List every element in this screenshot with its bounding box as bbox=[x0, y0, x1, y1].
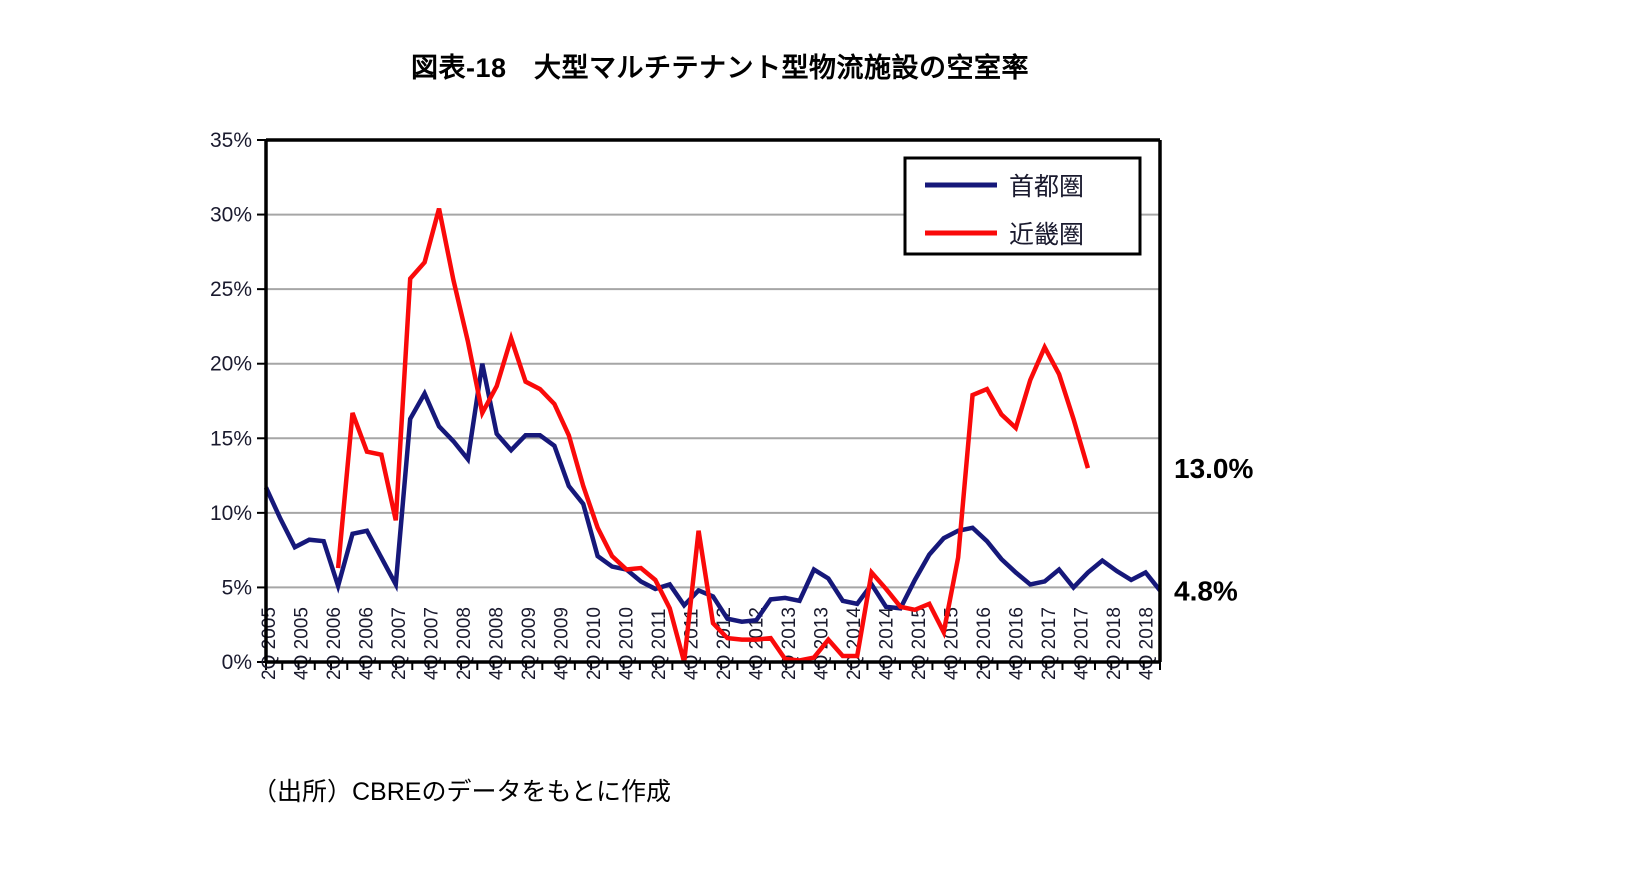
x-tick-label: 2Q 2017 bbox=[1039, 607, 1060, 680]
x-tick-label: 2Q 2018 bbox=[1104, 607, 1125, 680]
x-tick-label: 2Q 2008 bbox=[454, 607, 475, 680]
x-tick-label: 2Q 2007 bbox=[389, 607, 410, 680]
legend-label-首都圏: 首都圏 bbox=[1009, 173, 1084, 201]
chart-page: 図表-18 大型マルチテナント型物流施設の空室率 0%5%10%15%20%25… bbox=[0, 0, 1635, 873]
line-chart: 0%5%10%15%20%25%30%35% 2Q 20054Q 20052Q … bbox=[0, 0, 1635, 873]
y-tick-label: 35% bbox=[210, 129, 252, 152]
y-tick-label: 30% bbox=[210, 204, 252, 227]
x-axis-tick-labels: 2Q 20054Q 20052Q 20064Q 20062Q 20074Q 20… bbox=[259, 607, 1158, 680]
y-tick-label: 5% bbox=[222, 576, 252, 599]
y-tick-label: 20% bbox=[210, 353, 252, 376]
endpoint-label-近畿圏: 13.0% bbox=[1174, 453, 1253, 484]
source-note: （出所）CBREのデータをもとに作成 bbox=[252, 772, 671, 808]
x-tick-label: 4Q 2005 bbox=[292, 607, 313, 680]
x-tick-label: 2Q 2006 bbox=[324, 607, 345, 680]
x-tick-label: 2Q 2009 bbox=[519, 607, 540, 680]
x-tick-label: 4Q 2018 bbox=[1137, 607, 1158, 680]
x-tick-label: 4Q 2010 bbox=[617, 607, 638, 680]
x-tick-label: 4Q 2008 bbox=[487, 607, 508, 680]
x-tick-label: 2Q 2011 bbox=[649, 609, 670, 680]
y-tick-label: 15% bbox=[210, 427, 252, 450]
x-tick-label: 4Q 2009 bbox=[552, 607, 573, 680]
x-tick-label: 2Q 2010 bbox=[584, 607, 605, 680]
series-line-首都圏 bbox=[266, 364, 1160, 622]
x-tick-label: 4Q 2017 bbox=[1072, 607, 1093, 680]
legend-label-近畿圏: 近畿圏 bbox=[1009, 221, 1084, 249]
endpoint-value-labels: 13.0%4.8% bbox=[1174, 453, 1253, 606]
chart-plot-area: 0%5%10%15%20%25%30%35% 2Q 20054Q 20052Q … bbox=[0, 0, 1635, 873]
y-axis-tick-labels: 0%5%10%15%20%25%30%35% bbox=[210, 129, 266, 674]
chart-legend: 首都圏近畿圏 bbox=[905, 158, 1140, 254]
x-tick-label: 2Q 2016 bbox=[974, 607, 995, 680]
x-tick-label: 2Q 2015 bbox=[909, 607, 930, 680]
x-tick-label: 4Q 2006 bbox=[357, 607, 378, 680]
endpoint-label-首都圏: 4.8% bbox=[1174, 575, 1238, 606]
x-tick-label: 4Q 2014 bbox=[877, 607, 898, 680]
y-tick-label: 10% bbox=[210, 502, 252, 525]
data-series bbox=[266, 209, 1160, 662]
y-tick-label: 25% bbox=[210, 278, 252, 301]
x-tick-label: 4Q 2016 bbox=[1007, 607, 1028, 680]
y-tick-label: 0% bbox=[222, 651, 252, 674]
x-tick-label: 2Q 2005 bbox=[259, 607, 280, 680]
x-tick-label: 4Q 2007 bbox=[422, 607, 443, 680]
x-tick-label: 2Q 2013 bbox=[779, 607, 800, 680]
